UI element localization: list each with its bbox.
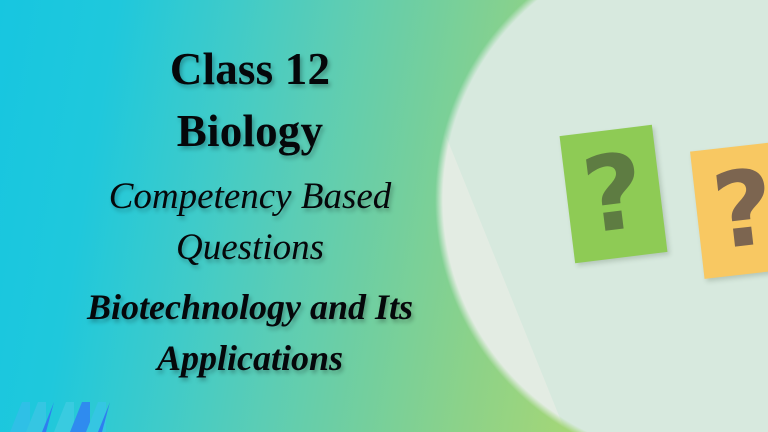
line-subject: Biology <box>177 100 323 162</box>
line-chapter-1: Biotechnology and Its <box>87 282 413 333</box>
line-chapter-2: Applications <box>157 333 343 384</box>
sticky-note-green: ? <box>560 125 668 263</box>
line-category-2: Questions <box>176 223 324 274</box>
question-mark-icon: ? <box>562 148 664 240</box>
line-class: Class 12 <box>170 38 330 100</box>
thumbnail-slide: ? ? Class 12 Biology Competency Based Qu… <box>0 0 768 432</box>
title-text-block: Class 12 Biology Competency Based Questi… <box>0 0 500 432</box>
sticky-note-yellow: ? <box>690 141 768 279</box>
question-mark-icon: ? <box>693 164 768 255</box>
line-category-1: Competency Based <box>109 172 392 223</box>
